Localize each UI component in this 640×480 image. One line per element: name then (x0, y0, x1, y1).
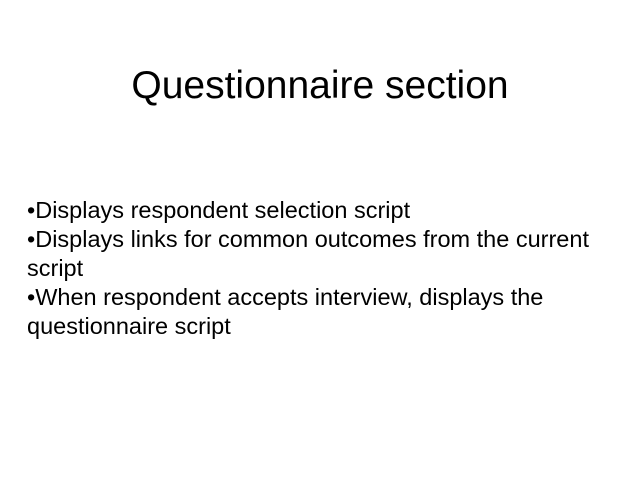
list-item: •When respondent accepts interview, disp… (27, 283, 613, 341)
list-item: •Displays respondent selection script (27, 196, 613, 225)
bullet-list: •Displays respondent selection script •D… (27, 196, 613, 341)
bullet-icon: • (27, 284, 35, 310)
list-item-text: When respondent accepts interview, displ… (27, 284, 543, 339)
page-title: Questionnaire section (0, 64, 640, 108)
list-item-text: Displays links for common outcomes from … (27, 226, 589, 281)
bullet-icon: • (27, 226, 35, 252)
list-item-text: Displays respondent selection script (35, 197, 410, 223)
slide-content-body: •Displays respondent selection script •D… (27, 196, 613, 341)
bullet-icon: • (27, 197, 35, 223)
list-item: •Displays links for common outcomes from… (27, 225, 613, 283)
presentation-slide: Questionnaire section •Displays responde… (0, 0, 640, 480)
